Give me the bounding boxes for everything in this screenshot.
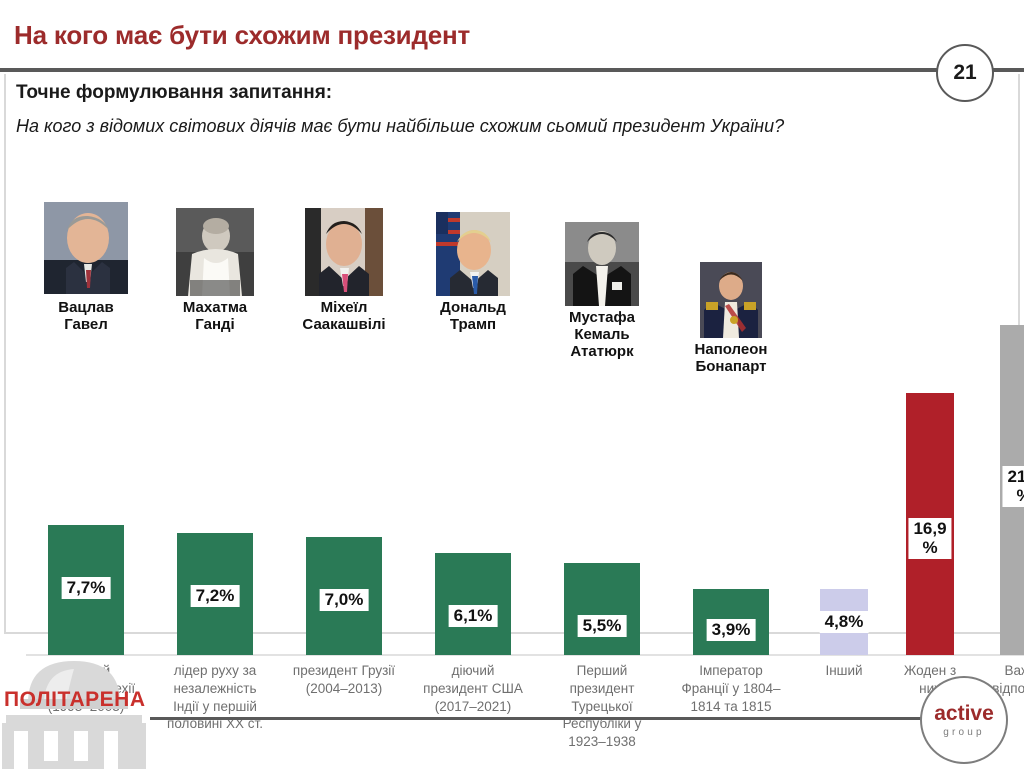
active-group-sublabel: group — [943, 727, 985, 738]
bar-description-mahatma-gandhi: лідер руху за незалежність Індії у перші… — [149, 662, 281, 733]
bar-group-mustafa-kemal-ataturk: Мустафа Кемаль Ататюрк 5,5% Перший прези… — [536, 150, 668, 655]
bar-label-mustafa-kemal-ataturk: Мустафа Кемаль Ататюрк — [537, 310, 667, 360]
bar-value-mikheil-saakashvili: 7,0% — [320, 589, 369, 611]
bar-value-other: 4,8% — [820, 611, 869, 633]
bar-chart: Вацлав Гавел 7,7% перший президент Чехії… — [6, 150, 1024, 505]
page-title: На кого має бути схожим президент — [14, 20, 470, 51]
portrait-napoleon-bonaparte — [700, 262, 762, 338]
portrait-napoleon-bonaparte-image — [700, 262, 762, 338]
portrait-vaclav-havel — [44, 202, 128, 294]
bar-description-napoleon-bonaparte: Імператор Франції у 1804– 1814 та 1815 — [665, 662, 797, 715]
bar-label-donald-trump: Дональд Трамп — [408, 300, 538, 334]
portrait-mahatma-gandhi — [176, 208, 254, 296]
bar-value-vaclav-havel: 7,7% — [62, 577, 111, 599]
portrait-donald-trump-image — [436, 212, 510, 296]
portrait-mikheil-saakashvili-image — [305, 208, 383, 296]
portrait-mikheil-saakashvili — [305, 208, 383, 296]
bar-mustafa-kemal-ataturk — [564, 563, 640, 655]
bar-group-mahatma-gandhi: Махатма Ганді 7,2% лідер руху за незалеж… — [149, 150, 281, 655]
portrait-mustafa-kemal-ataturk-image — [565, 222, 639, 306]
slide-root: На кого має бути схожим президент 21 Точ… — [0, 0, 1024, 769]
bar-group-hard-to-answer: 21,4 % Важко відповісти — [960, 150, 1024, 655]
bar-value-none-of-them: 16,9 % — [908, 518, 951, 559]
bar-group-donald-trump: Дональд Трамп 6,1% діючий президент США … — [407, 150, 539, 655]
politarena-wordmark: ПОЛІТАРЕНА — [4, 688, 146, 712]
footer-divider — [150, 717, 940, 720]
bar-value-mustafa-kemal-ataturk: 5,5% — [578, 615, 627, 637]
bar-description-mikheil-saakashvili: президент Грузії (2004–2013) — [278, 662, 410, 698]
bar-value-mahatma-gandhi: 7,2% — [191, 585, 240, 607]
portrait-donald-trump — [436, 212, 510, 296]
bar-value-hard-to-answer: 21,4 % — [1002, 466, 1024, 507]
bar-label-mahatma-gandhi: Махатма Ганді — [150, 300, 280, 334]
bar-label-mikheil-saakashvili: Міхеїл Саакашвілі — [279, 300, 409, 334]
portrait-vaclav-havel-image — [44, 202, 128, 294]
portrait-mahatma-gandhi-image — [176, 208, 254, 296]
bar-label-vaclav-havel: Вацлав Гавел — [21, 300, 151, 334]
bar-value-napoleon-bonaparte: 3,9% — [707, 619, 756, 641]
bar-group-napoleon-bonaparte: Наполеон Бонапарт 3,9% Імператор Франції… — [665, 150, 797, 655]
portrait-mustafa-kemal-ataturk — [565, 222, 639, 306]
page-number-badge: 21 — [936, 44, 994, 102]
bar-description-mustafa-kemal-ataturk: Перший президент Турецької Республіки у … — [536, 662, 668, 751]
header-divider — [0, 68, 1024, 72]
active-group-wordmark: active — [934, 703, 994, 724]
bar-value-donald-trump: 6,1% — [449, 605, 498, 627]
bar-description-donald-trump: діючий президент США (2017–2021) — [407, 662, 539, 715]
bar-group-vaclav-havel: Вацлав Гавел 7,7% перший президент Чехії… — [20, 150, 152, 655]
active-group-logo: active group — [920, 676, 1008, 764]
bar-description-other: Інший — [802, 662, 886, 680]
bar-group-mikheil-saakashvili: Міхеїл Саакашвілі 7,0% президент Грузії … — [278, 150, 410, 655]
bar-label-napoleon-bonaparte: Наполеон Бонапарт — [666, 342, 796, 376]
